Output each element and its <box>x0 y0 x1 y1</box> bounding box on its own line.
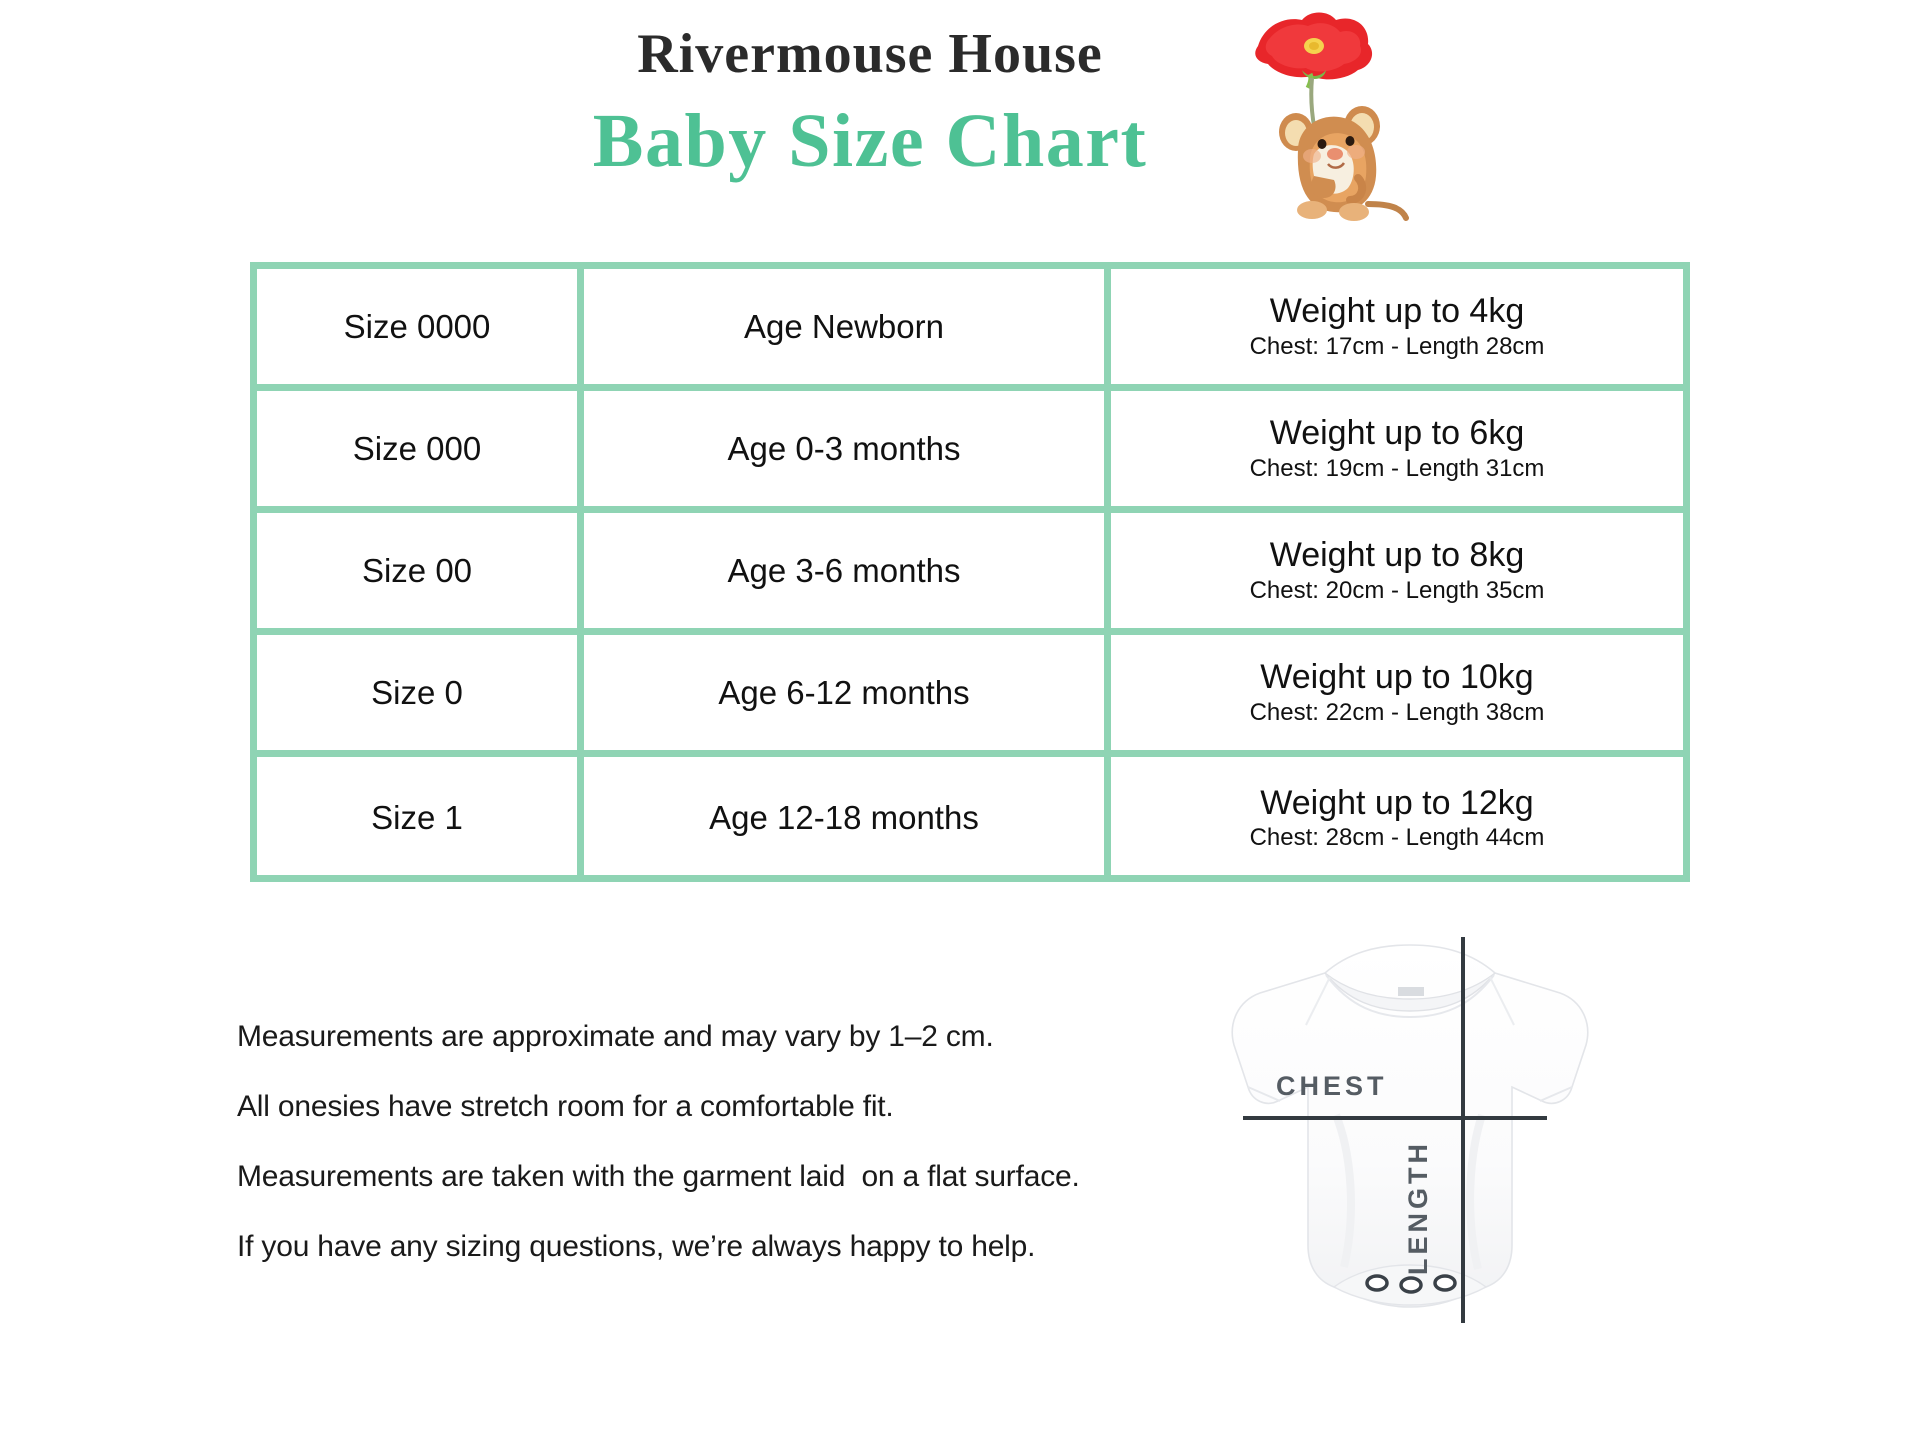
chest-label: CHEST <box>1276 1071 1388 1101</box>
weight-label: Weight up to 8kg <box>1270 538 1525 574</box>
length-label: LENGTH <box>1403 1140 1433 1275</box>
note-line: Measurements are approximate and may var… <box>237 1020 1247 1054</box>
measurement-detail: Chest: 17cm - Length 28cm <box>1250 334 1545 359</box>
size-label: Size 0000 <box>344 308 491 346</box>
age-label: Age 0-3 months <box>728 430 961 468</box>
table-row: Size 000 Age 0-3 months Weight up to 6kg… <box>257 391 1683 513</box>
page-title: Baby Size Chart <box>0 98 1920 185</box>
size-label: Size 1 <box>371 799 463 837</box>
measurement-detail: Chest: 28cm - Length 44cm <box>1250 825 1545 850</box>
table-row: Size 0000 Age Newborn Weight up to 4kg C… <box>257 269 1683 391</box>
size-label: Size 00 <box>362 552 472 590</box>
note-line: Measurements are taken with the garment … <box>237 1160 1247 1194</box>
cell-age: Age 6-12 months <box>584 635 1111 750</box>
neck-tag <box>1398 987 1424 996</box>
cell-weight: Weight up to 4kg Chest: 17cm - Length 28… <box>1111 269 1683 384</box>
measurement-detail: Chest: 19cm - Length 31cm <box>1250 456 1545 481</box>
table-row: Size 0 Age 6-12 months Weight up to 10kg… <box>257 635 1683 757</box>
cell-age: Age 12-18 months <box>584 757 1111 879</box>
cell-weight: Weight up to 8kg Chest: 20cm - Length 35… <box>1111 513 1683 628</box>
brand-name: Rivermouse House <box>0 22 1920 86</box>
onesie-measurement-diagram: CHEST LENGTH <box>1130 915 1690 1435</box>
size-label: Size 000 <box>353 430 481 468</box>
cell-weight: Weight up to 12kg Chest: 28cm - Length 4… <box>1111 757 1683 879</box>
weight-label: Weight up to 6kg <box>1270 416 1525 452</box>
age-label: Age 3-6 months <box>728 552 961 590</box>
cell-size: Size 0 <box>257 635 584 750</box>
measurement-detail: Chest: 22cm - Length 38cm <box>1250 700 1545 725</box>
cell-weight: Weight up to 6kg Chest: 19cm - Length 31… <box>1111 391 1683 506</box>
age-label: Age 12-18 months <box>709 799 979 837</box>
table-row: Size 1 Age 12-18 months Weight up to 12k… <box>257 757 1683 879</box>
notes-block: Measurements are approximate and may var… <box>237 1020 1247 1300</box>
cell-size: Size 000 <box>257 391 584 506</box>
cell-age: Age Newborn <box>584 269 1111 384</box>
weight-label: Weight up to 10kg <box>1260 660 1533 696</box>
note-line: If you have any sizing questions, we’re … <box>237 1230 1247 1264</box>
table-row: Size 00 Age 3-6 months Weight up to 8kg … <box>257 513 1683 635</box>
weight-label: Weight up to 4kg <box>1270 294 1525 330</box>
weight-label: Weight up to 12kg <box>1260 786 1533 822</box>
mouse-with-poppy-icon <box>1250 8 1420 233</box>
cell-size: Size 0000 <box>257 269 584 384</box>
cell-age: Age 0-3 months <box>584 391 1111 506</box>
cell-weight: Weight up to 10kg Chest: 22cm - Length 3… <box>1111 635 1683 750</box>
cell-size: Size 00 <box>257 513 584 628</box>
page-header: Rivermouse House Baby Size Chart <box>0 0 1920 250</box>
size-label: Size 0 <box>371 674 463 712</box>
snap-buttons <box>1367 1276 1455 1292</box>
measurement-detail: Chest: 20cm - Length 35cm <box>1250 578 1545 603</box>
size-chart-table: Size 0000 Age Newborn Weight up to 4kg C… <box>250 262 1690 882</box>
cell-size: Size 1 <box>257 757 584 879</box>
age-label: Age 6-12 months <box>718 674 969 712</box>
age-label: Age Newborn <box>744 308 944 346</box>
note-line: All onesies have stretch room for a comf… <box>237 1090 1247 1124</box>
cell-age: Age 3-6 months <box>584 513 1111 628</box>
